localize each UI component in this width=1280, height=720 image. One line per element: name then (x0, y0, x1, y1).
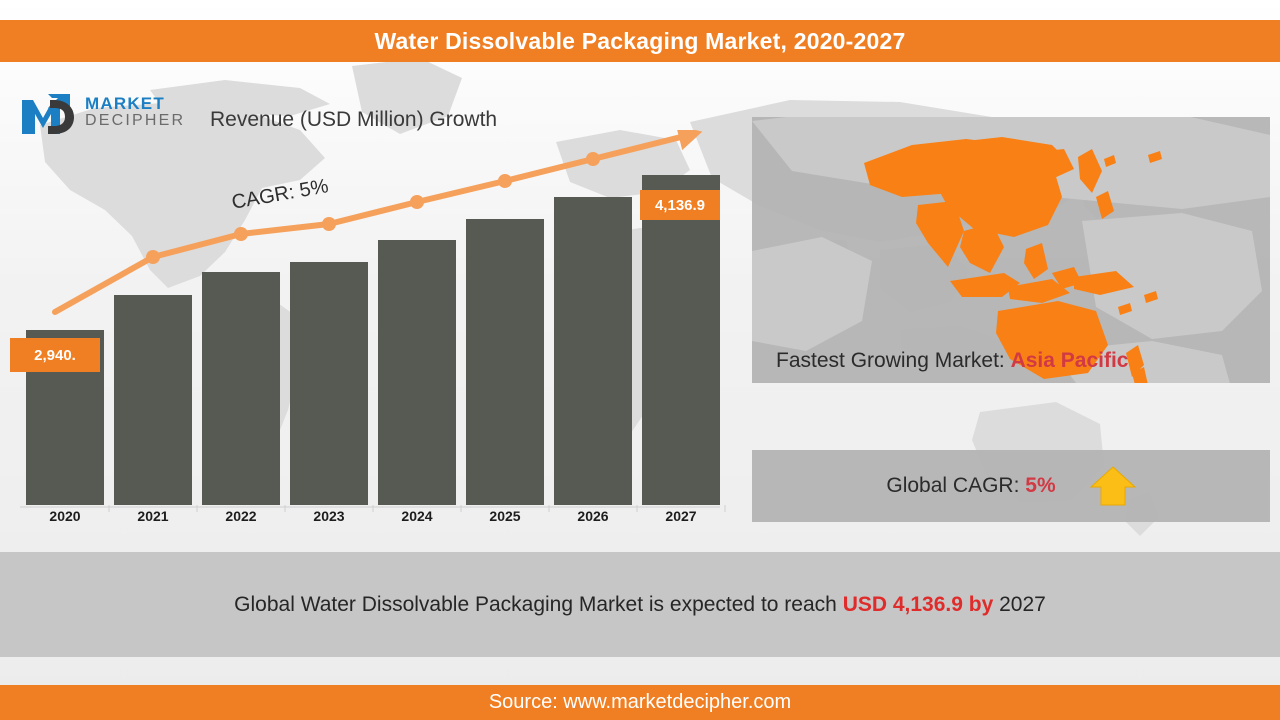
x-label-2020: 2020 (21, 508, 109, 524)
md-logo-icon (18, 86, 80, 138)
x-label-2021: 2021 (109, 508, 197, 524)
bar-2024 (378, 240, 456, 505)
bar-2023 (290, 262, 368, 505)
page-title: Water Dissolvable Packaging Market, 2020… (374, 28, 905, 55)
asia-pacific-map-icon (752, 117, 1270, 383)
statement-highlight: USD 4,136.9 by (843, 593, 994, 616)
statement-prefix: Global Water Dissolvable Packaging Marke… (234, 593, 837, 616)
logo-line-2: DECIPHER (85, 113, 185, 129)
x-label-2024: 2024 (373, 508, 461, 524)
statement-suffix: 2027 (999, 593, 1046, 616)
bar-2027 (642, 175, 720, 505)
data-label-2020: 2,940. (10, 338, 100, 372)
x-axis-labels: 20202021202220232024202520262027 (0, 508, 740, 536)
trend-marker-2023 (322, 217, 336, 231)
logo-line-1: MARKET (85, 95, 185, 112)
bar-series (26, 175, 720, 505)
bar-2022 (202, 272, 280, 505)
caption-prefix: Fastest Growing Market: (776, 349, 1005, 372)
fastest-growing-market-caption: Fastest Growing Market: Asia Pacific (776, 349, 1128, 373)
fastest-growing-market-panel: Fastest Growing Market: Asia Pacific (752, 117, 1270, 383)
source-text: Source: www.marketdecipher.com (489, 691, 791, 714)
trend-marker-2024 (410, 195, 424, 209)
region-name: Asia Pacific (1011, 349, 1129, 372)
x-label-2025: 2025 (461, 508, 549, 524)
market-statement-banner: Global Water Dissolvable Packaging Marke… (0, 552, 1280, 657)
trend-marker-2026 (586, 152, 600, 166)
logo-wordmark: MARKET DECIPHER (85, 95, 185, 129)
up-arrow-icon (1090, 465, 1136, 507)
statement-text: Global Water Dissolvable Packaging Marke… (234, 593, 1046, 617)
x-label-2022: 2022 (197, 508, 285, 524)
global-cagr-text: Global CAGR: 5% (886, 474, 1055, 498)
bar-2025 (466, 219, 544, 505)
x-label-2026: 2026 (549, 508, 637, 524)
bar-2026 (554, 197, 632, 505)
source-footer: Source: www.marketdecipher.com (0, 685, 1280, 720)
infographic-canvas: Water Dissolvable Packaging Market, 2020… (0, 0, 1280, 720)
revenue-bar-chart (0, 130, 740, 530)
trend-arrow-icon (676, 130, 702, 150)
global-cagr-panel: Global CAGR: 5% (752, 450, 1270, 522)
chart-heading: Revenue (USD Million) Growth (210, 108, 497, 132)
trend-marker-2021 (146, 250, 160, 264)
trend-marker-2022 (234, 227, 248, 241)
x-label-2023: 2023 (285, 508, 373, 524)
bar-2021 (114, 295, 192, 505)
brand-logo: MARKET DECIPHER (18, 86, 185, 138)
global-cagr-value: 5% (1025, 474, 1055, 497)
header-title-bar: Water Dissolvable Packaging Market, 2020… (0, 20, 1280, 62)
global-cagr-label: Global CAGR: (886, 474, 1019, 497)
x-label-2027: 2027 (637, 508, 725, 524)
data-label-2027: 4,136.9 (640, 190, 720, 220)
trend-marker-2025 (498, 174, 512, 188)
